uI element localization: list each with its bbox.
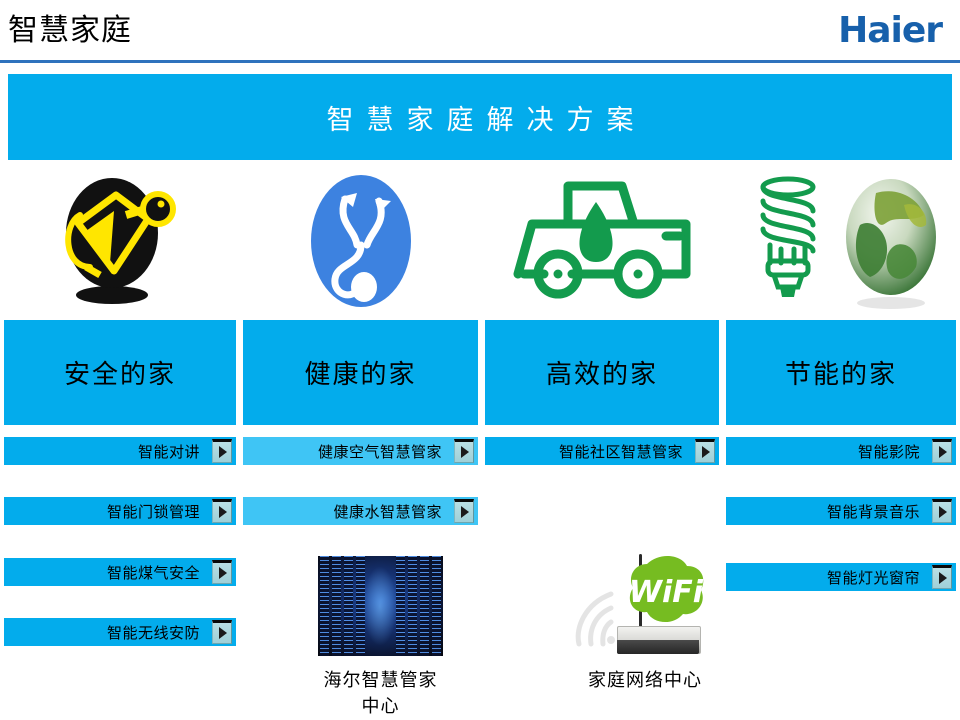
category-label: 节能的家: [785, 354, 897, 391]
play-icon[interactable]: [695, 439, 715, 463]
item-label: 智能灯光窗帘: [827, 567, 920, 588]
item-label: 智能背景音乐: [827, 501, 920, 522]
play-icon[interactable]: [212, 499, 232, 523]
item-label: 智能对讲: [138, 441, 200, 462]
item-label: 智能影院: [858, 441, 920, 462]
item-button-smart-intercom[interactable]: 智能对讲: [4, 437, 236, 465]
item-button-smart-door-lock[interactable]: 智能门锁管理: [4, 497, 236, 525]
item-label: 健康空气智慧管家: [318, 441, 442, 462]
item-label: 智能无线安防: [107, 622, 200, 643]
item-label: 健康水智慧管家: [333, 501, 442, 522]
page-title: 智慧家庭: [8, 12, 132, 50]
category-label: 安全的家: [64, 354, 176, 391]
icon-cell-healthy-home: [240, 166, 482, 316]
security-lock-icon: [56, 171, 184, 311]
category-header-safe-home[interactable]: 安全的家: [4, 320, 236, 425]
item-button-healthy-air-steward[interactable]: 健康空气智慧管家: [243, 437, 478, 465]
green-truck-waterdrop-icon: [510, 176, 695, 306]
item-label: 智能门锁管理: [107, 501, 200, 522]
icon-cell-safe-home: [0, 166, 240, 316]
item-label: 智能社区智慧管家: [559, 441, 683, 462]
wifi-waves-icon: [565, 588, 617, 648]
play-icon[interactable]: [454, 499, 474, 523]
category-header-efficient-home[interactable]: 高效的家: [485, 320, 719, 425]
play-icon[interactable]: [212, 439, 232, 463]
server-room-image: [318, 556, 443, 656]
play-icon[interactable]: [932, 565, 952, 589]
router-front-panel: [617, 640, 699, 654]
haier-smart-center-caption: 海尔智慧管家中心: [318, 666, 443, 718]
item-label: 智能煤气安全: [107, 562, 200, 583]
item-button-smart-cinema[interactable]: 智能影院: [726, 437, 956, 465]
wifi-router-image: WiFi: [565, 540, 725, 658]
svg-text:WiFi: WiFi: [629, 575, 704, 610]
cfl-bulb-globe-icon: [736, 171, 946, 311]
solution-title-banner: 智慧家庭解决方案: [8, 74, 952, 160]
icon-cell-energy-saving-home: [722, 166, 960, 316]
play-icon[interactable]: [454, 439, 474, 463]
play-icon[interactable]: [212, 560, 232, 584]
haier-logo: Haier: [838, 10, 942, 52]
item-button-smart-lighting-curtain[interactable]: 智能灯光窗帘: [726, 563, 956, 591]
play-icon[interactable]: [932, 499, 952, 523]
category-header-healthy-home[interactable]: 健康的家: [243, 320, 478, 425]
play-icon[interactable]: [932, 439, 952, 463]
icon-cell-efficient-home: [482, 166, 722, 316]
play-icon[interactable]: [212, 620, 232, 644]
wifi-cloud-logo-icon: WiFi: [625, 554, 707, 630]
item-button-smart-gas-safety[interactable]: 智能煤气安全: [4, 558, 236, 586]
home-network-center-caption: 家庭网络中心: [565, 666, 725, 692]
item-button-smart-wireless-security[interactable]: 智能无线安防: [4, 618, 236, 646]
item-button-smart-community-steward[interactable]: 智能社区智慧管家: [485, 437, 719, 465]
item-button-healthy-water-steward[interactable]: 健康水智慧管家: [243, 497, 478, 525]
page-header: 智慧家庭 Haier: [0, 0, 960, 62]
item-button-smart-background-music[interactable]: 智能背景音乐: [726, 497, 956, 525]
category-label: 高效的家: [546, 354, 658, 391]
category-label: 健康的家: [304, 354, 416, 391]
category-header-energy-saving-home[interactable]: 节能的家: [726, 320, 956, 425]
header-divider: [0, 60, 960, 63]
stethoscope-health-icon: [301, 171, 421, 311]
solution-title-text: 智慧家庭解决方案: [8, 74, 952, 160]
